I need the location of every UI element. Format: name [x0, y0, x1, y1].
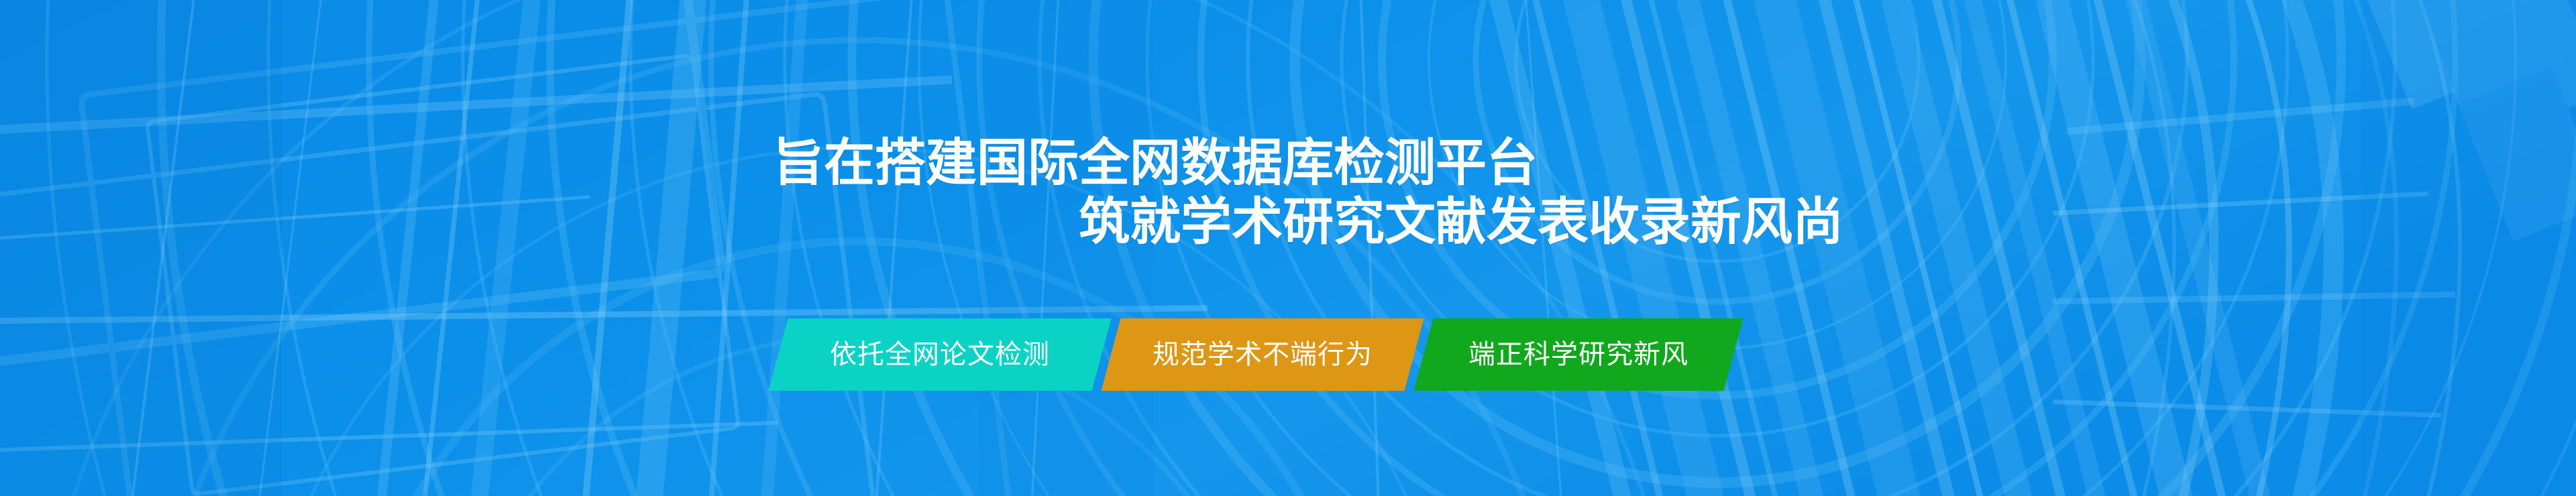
feature-tag-academic-misconduct[interactable]: 规范学术不端行为 — [1102, 318, 1424, 391]
hero-banner: 旨在搭建国际全网数据库检测平台 筑就学术研究文献发表收录新风尚 依托全网论文检测… — [0, 0, 2576, 496]
feature-tag-label: 依托全网论文检测 — [830, 341, 1050, 368]
feature-tag-label: 端正科学研究新风 — [1468, 341, 1688, 368]
feature-tag-label: 规范学术不端行为 — [1152, 341, 1373, 368]
background-decoration — [0, 0, 2576, 496]
feature-tag-research-integrity[interactable]: 端正科学研究新风 — [1414, 318, 1743, 391]
feature-tag-plagiarism-detection[interactable]: 依托全网论文检测 — [769, 318, 1112, 391]
feature-tag-bar: 依托全网论文检测 规范学术不端行为 端正科学研究新风 — [778, 318, 1811, 391]
